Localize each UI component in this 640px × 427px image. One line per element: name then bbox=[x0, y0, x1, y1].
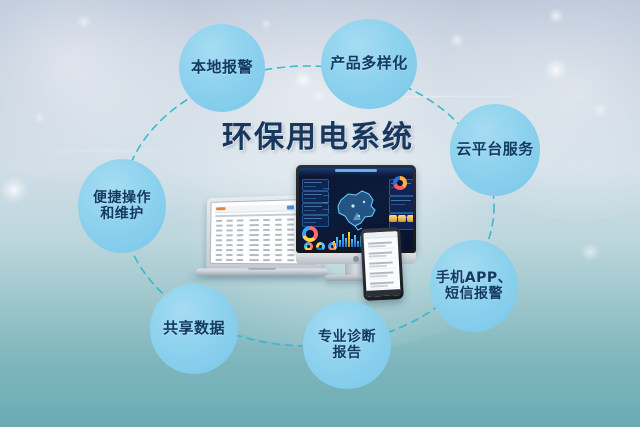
table-cell bbox=[216, 220, 223, 222]
dashboard-header bbox=[299, 168, 413, 176]
table-cell bbox=[237, 229, 244, 231]
china-map-icon bbox=[331, 186, 383, 232]
toolbar-button bbox=[287, 205, 294, 209]
kpi-line bbox=[304, 182, 322, 183]
table-cell bbox=[275, 239, 282, 241]
table-cell bbox=[275, 219, 282, 221]
bubble-label: 手机APP、短信报警 bbox=[436, 270, 512, 302]
table-cell bbox=[237, 239, 244, 241]
bubble-label: 共享数据 bbox=[163, 320, 225, 337]
kpi-line bbox=[304, 222, 316, 223]
bubble-label: 产品多样化 bbox=[330, 55, 408, 72]
map-label bbox=[323, 202, 329, 203]
bubble-label: 专业诊断报告 bbox=[318, 329, 376, 361]
table-cell bbox=[275, 259, 282, 261]
table-cell bbox=[287, 224, 294, 226]
bubble-label-line: 手机APP、 bbox=[436, 270, 512, 286]
phone-screen bbox=[363, 231, 400, 297]
kpi-line bbox=[304, 186, 316, 187]
bubble-product-diversity[interactable]: 产品多样化 bbox=[321, 19, 417, 109]
table-cell bbox=[263, 244, 270, 246]
laptop-trackpad-notch bbox=[248, 268, 276, 269]
table-cell bbox=[249, 249, 259, 251]
table-cell bbox=[263, 219, 270, 221]
bubble-label: 云平台服务 bbox=[456, 141, 534, 158]
bubble-mobile-app-sms[interactable]: 手机APP、短信报警 bbox=[430, 240, 518, 332]
table-cell bbox=[249, 219, 259, 221]
kpi-line bbox=[304, 206, 322, 207]
media-thumb bbox=[389, 215, 397, 222]
table-cell bbox=[237, 249, 244, 251]
table-cell bbox=[263, 234, 270, 236]
table-cell bbox=[249, 259, 259, 261]
kpi-panel bbox=[302, 215, 329, 227]
table-cell bbox=[249, 234, 259, 236]
map-label bbox=[323, 188, 329, 189]
table-cell bbox=[216, 230, 223, 232]
table-cell bbox=[226, 244, 233, 246]
table-cell bbox=[263, 239, 270, 241]
table-cell bbox=[275, 249, 282, 251]
kpi-line bbox=[304, 194, 322, 195]
monitor-logo bbox=[353, 256, 359, 262]
table-cell bbox=[263, 259, 270, 261]
table-cell bbox=[226, 225, 233, 227]
table-cell bbox=[275, 244, 282, 246]
bubble-diagnostic-report[interactable]: 专业诊断报告 bbox=[303, 301, 391, 389]
table-cell bbox=[249, 229, 259, 231]
bubble-label: 便捷操作和维护 bbox=[93, 190, 151, 222]
table-cell bbox=[226, 259, 233, 261]
table-cell bbox=[263, 229, 270, 231]
table-cell bbox=[249, 239, 259, 241]
map-label bbox=[323, 195, 329, 196]
poster-canvas: 本地报警产品多样化云平台服务手机APP、短信报警专业诊断报告共享数据便捷操作和维… bbox=[0, 0, 640, 427]
side-line bbox=[391, 200, 411, 201]
table-cell bbox=[226, 249, 233, 251]
bubble-label-line: 和维护 bbox=[93, 206, 151, 222]
table-cell bbox=[237, 219, 244, 221]
table-cell bbox=[287, 239, 294, 241]
table-cell bbox=[216, 239, 223, 241]
bubble-label-line: 报告 bbox=[318, 345, 376, 361]
bubble-easy-operation[interactable]: 便捷操作和维护 bbox=[78, 159, 166, 253]
table-cell bbox=[275, 234, 282, 236]
map-label bbox=[323, 209, 329, 210]
media-thumb bbox=[398, 215, 406, 222]
phone-status-bar bbox=[363, 231, 397, 239]
donut-chart-hole bbox=[306, 230, 313, 237]
table-cell bbox=[226, 220, 233, 222]
table-cell bbox=[237, 234, 244, 236]
table-cell bbox=[226, 234, 233, 236]
table-cell bbox=[237, 259, 244, 261]
page-title: 环保用电系统 bbox=[222, 112, 414, 156]
phone-nav-dot[interactable] bbox=[387, 296, 389, 297]
bubble-label-line: 本地报警 bbox=[191, 59, 253, 76]
table-cell bbox=[249, 224, 259, 226]
media-thumb bbox=[407, 215, 413, 222]
bubble-cloud-platform[interactable]: 云平台服务 bbox=[450, 104, 540, 196]
bar bbox=[342, 234, 344, 247]
phone-nav-dot[interactable] bbox=[395, 295, 397, 297]
bubble-label-line: 短信报警 bbox=[436, 286, 512, 302]
bar bbox=[345, 238, 347, 247]
table-cell bbox=[216, 259, 223, 261]
kpi-panel bbox=[302, 179, 329, 191]
side-line bbox=[391, 204, 405, 205]
table-cell bbox=[249, 244, 259, 246]
bar bbox=[357, 241, 359, 247]
kpi-line bbox=[304, 218, 322, 219]
bubble-label-line: 共享数据 bbox=[163, 320, 225, 337]
table-cell bbox=[275, 229, 282, 231]
table-cell bbox=[237, 224, 244, 226]
table-cell bbox=[263, 254, 270, 256]
table-cell bbox=[216, 249, 223, 251]
toolbar-button bbox=[216, 207, 225, 210]
kpi-line bbox=[304, 210, 316, 211]
phone-nav-dot[interactable] bbox=[379, 296, 381, 297]
bar-highlight bbox=[333, 241, 335, 247]
kpi-line bbox=[304, 198, 316, 199]
table-cell bbox=[226, 254, 233, 256]
bubble-label-line: 产品多样化 bbox=[330, 55, 408, 72]
table-cell bbox=[287, 244, 294, 246]
table-cell bbox=[275, 254, 282, 256]
bubble-label-line: 专业诊断 bbox=[318, 329, 376, 345]
bar-highlight bbox=[348, 232, 350, 247]
bubble-shared-data[interactable]: 共享数据 bbox=[150, 284, 238, 374]
bar bbox=[336, 237, 338, 247]
bar bbox=[354, 235, 356, 247]
bar bbox=[351, 239, 353, 247]
bar bbox=[339, 240, 341, 247]
table-cell bbox=[226, 239, 233, 241]
table-cell bbox=[216, 234, 223, 236]
bubble-label-line: 便捷操作 bbox=[93, 190, 151, 206]
table-cell bbox=[249, 254, 259, 256]
table-cell bbox=[275, 224, 282, 226]
table-cell bbox=[287, 234, 294, 236]
table-cell bbox=[263, 224, 270, 226]
table-cell bbox=[216, 225, 223, 227]
table-cell bbox=[263, 249, 270, 251]
table-cell bbox=[287, 218, 294, 220]
table-cell bbox=[237, 244, 244, 246]
smartphone bbox=[360, 227, 404, 301]
table-cell bbox=[226, 229, 233, 231]
table-cell bbox=[216, 244, 223, 246]
dashboard-title-bar bbox=[335, 169, 377, 172]
table-cell bbox=[216, 254, 223, 256]
table-cell bbox=[287, 254, 294, 256]
table-cell bbox=[287, 259, 294, 261]
bubble-label: 本地报警 bbox=[191, 59, 253, 76]
bubble-label-line: 云平台服务 bbox=[456, 141, 534, 158]
table-cell bbox=[237, 254, 244, 256]
bubble-local-alarm[interactable]: 本地报警 bbox=[179, 24, 265, 112]
table-cell bbox=[287, 249, 294, 251]
table-cell bbox=[287, 229, 294, 231]
